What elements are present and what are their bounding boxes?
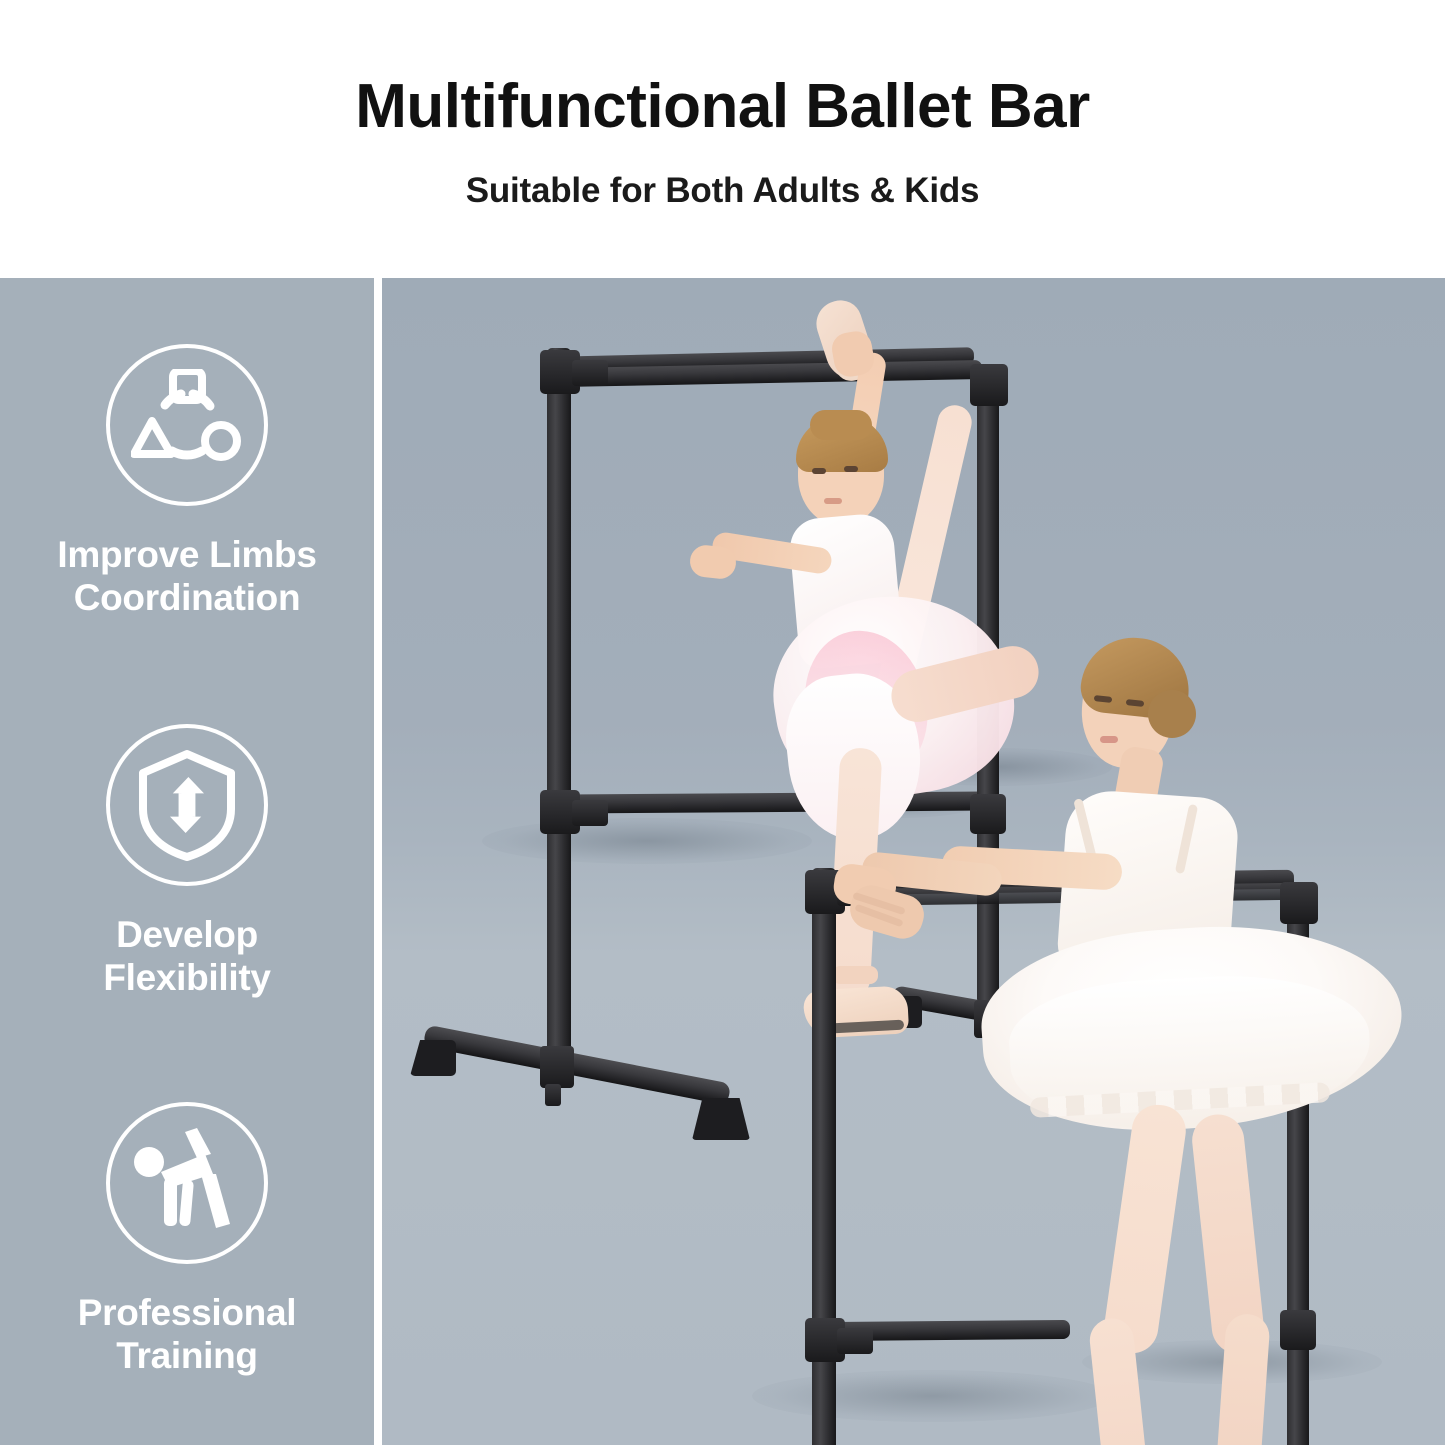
vertical-divider bbox=[374, 278, 382, 1445]
adult-mouth bbox=[1100, 736, 1118, 743]
page-subtitle: Suitable for Both Adults & Kids bbox=[466, 171, 980, 211]
barre-foot-cap bbox=[692, 1098, 750, 1140]
barre-foot-bolt bbox=[545, 1084, 561, 1106]
barre-left-post bbox=[547, 348, 571, 1054]
barre-clamp bbox=[1280, 1310, 1316, 1350]
kid-ankle-ribbon bbox=[832, 966, 878, 984]
page-title: Multifunctional Ballet Bar bbox=[355, 74, 1089, 139]
kid-eye bbox=[844, 466, 858, 472]
barre-mid-rail bbox=[558, 791, 990, 813]
barre-foot-clamp bbox=[540, 1046, 574, 1088]
feature-item-flexibility: Develop Flexibility bbox=[0, 724, 374, 1000]
product-photo-area bbox=[382, 278, 1445, 1445]
shield-flexibility-icon bbox=[106, 724, 268, 886]
barre-clamp bbox=[970, 364, 1008, 406]
floor-shadow bbox=[752, 1370, 1112, 1422]
shield-flexibility-glyph bbox=[134, 749, 240, 861]
kid-eye bbox=[812, 468, 826, 474]
barre-clamp bbox=[970, 794, 1006, 834]
barre-clamp bbox=[572, 360, 608, 386]
coordination-shapes-glyph bbox=[131, 369, 243, 481]
feature-label-coordination: Improve Limbs Coordination bbox=[57, 534, 316, 620]
kid-hair-bun bbox=[810, 410, 872, 440]
barre-clamp bbox=[572, 800, 608, 826]
product-infographic: Multifunctional Ballet Bar Suitable for … bbox=[0, 0, 1445, 1445]
stretching-person-glyph bbox=[131, 1128, 243, 1238]
kid-mouth bbox=[824, 498, 842, 504]
coordination-shapes-icon bbox=[106, 344, 268, 506]
feature-label-flexibility: Develop Flexibility bbox=[103, 914, 270, 1000]
barre-left-foot bbox=[423, 1025, 732, 1106]
barre-clamp bbox=[1280, 882, 1318, 924]
feature-item-coordination: Improve Limbs Coordination bbox=[0, 344, 374, 620]
feature-sidebar: Improve Limbs Coordination Develop Flexi… bbox=[0, 278, 374, 1445]
header: Multifunctional Ballet Bar Suitable for … bbox=[0, 0, 1445, 278]
feature-label-training: Professional Training bbox=[78, 1292, 296, 1378]
content-panel: Improve Limbs Coordination Develop Flexi… bbox=[0, 278, 1445, 1445]
feature-item-training: Professional Training bbox=[0, 1102, 374, 1378]
adult-hair-bun bbox=[1148, 690, 1196, 738]
stretching-person-icon bbox=[106, 1102, 268, 1264]
floor-shadow bbox=[482, 818, 812, 864]
barre-foot-cap bbox=[410, 1040, 456, 1076]
barre-clamp bbox=[837, 1328, 873, 1354]
